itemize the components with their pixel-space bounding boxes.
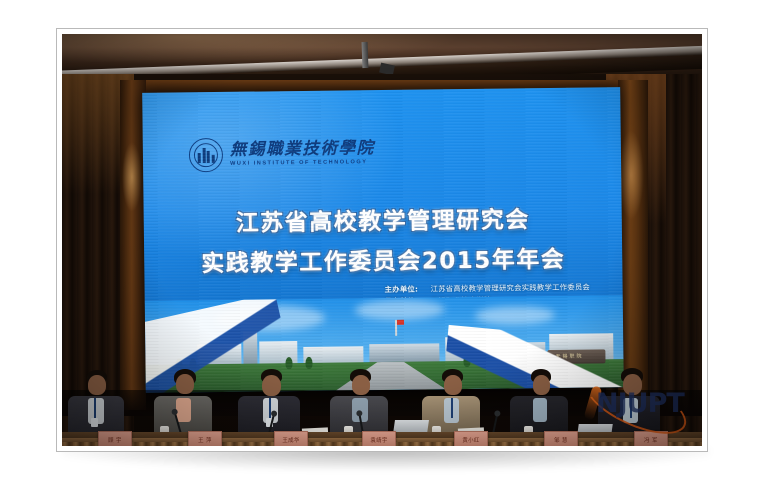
name-placard: 邹 慧 [544, 431, 578, 446]
panelist-head [444, 375, 462, 395]
name-placard-text: 袁靖宇 [370, 436, 387, 444]
name-placard: 袁靖宇 [362, 431, 396, 446]
uplight-left [122, 142, 142, 212]
panelist-head [533, 375, 550, 395]
name-placard: 王 萍 [188, 431, 222, 446]
led-stage-screen: 無錫職業技術學院 WUXI INSTITUTE OF TECHNOLOGY 江苏… [142, 87, 624, 393]
name-placard: 王成华 [274, 431, 308, 446]
conference-photograph: 無錫職業技術學院 WUXI INSTITUTE OF TECHNOLOGY 江苏… [62, 34, 702, 446]
name-placard-text: 黄小红 [462, 436, 479, 444]
name-badge [91, 418, 98, 427]
panelist-head [88, 375, 106, 395]
beam-hanger-icon [362, 42, 369, 68]
name-placard: 顾 宇 [98, 431, 132, 446]
uplight-right [618, 130, 644, 220]
panelist-shirt [176, 398, 191, 422]
panelist-shirt [533, 398, 547, 422]
watermark: NJUPT [582, 380, 692, 428]
panelist-head [176, 374, 194, 394]
name-placard-text: 邹 慧 [554, 436, 568, 444]
led-scanline-overlay [142, 87, 624, 393]
lanyard [451, 398, 453, 418]
name-placard: 黄小红 [454, 431, 488, 446]
panelist-head [262, 375, 281, 396]
name-placard-text: 冯 军 [644, 436, 658, 444]
watermark-text: NJUPT [596, 388, 684, 419]
name-placard-text: 顾 宇 [108, 436, 122, 444]
panelist-head [352, 375, 370, 395]
lanyard [94, 398, 96, 418]
name-placard-text: 王 萍 [198, 436, 212, 444]
name-placard-text: 王成华 [282, 436, 299, 444]
photo-matte: 無錫職業技術學院 WUXI INSTITUTE OF TECHNOLOGY 江苏… [0, 0, 764, 480]
